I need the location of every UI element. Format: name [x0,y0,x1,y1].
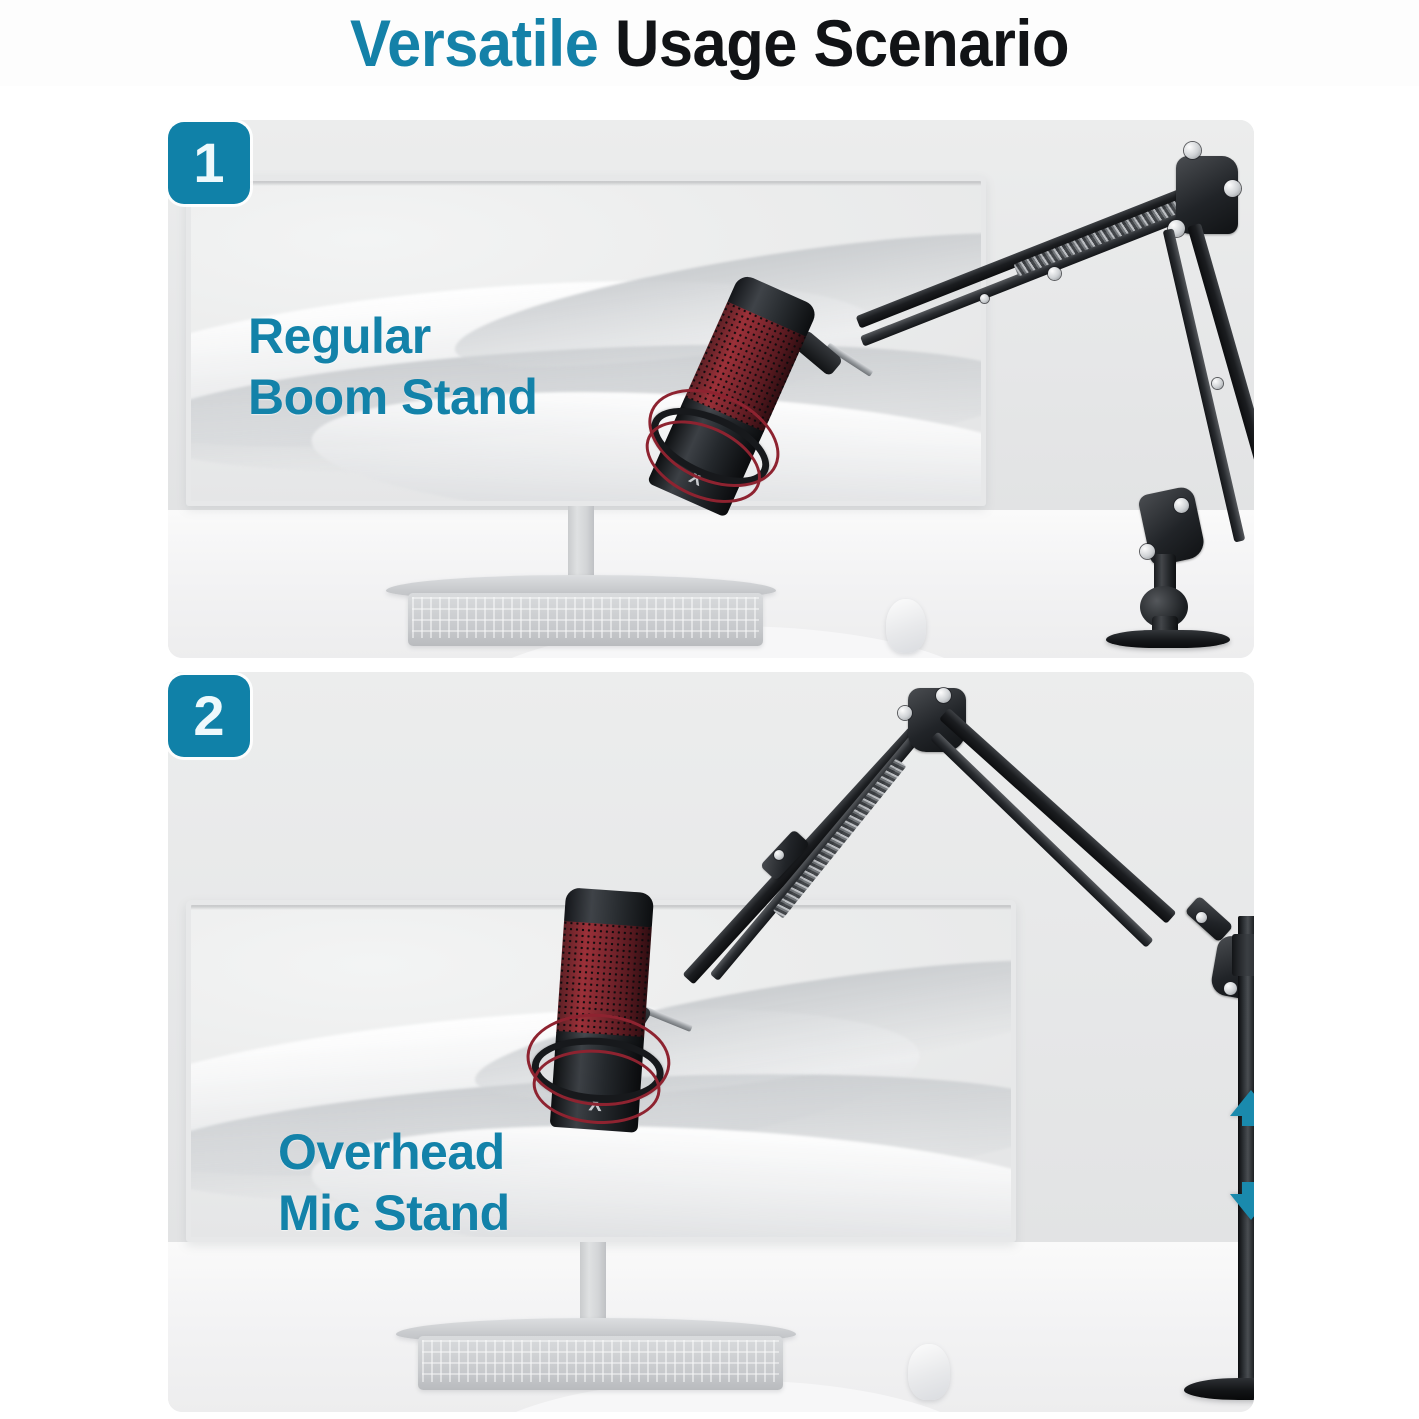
height-arrow-up-stem [1242,1112,1254,1126]
page-header: Versatile Usage Scenario [0,0,1419,86]
page-title-accent: Versatile [350,6,598,80]
boom-pole-screw-b-2 [1224,982,1237,995]
panel-badge-2: 2 [168,675,250,757]
monitor-neck-2 [580,1242,606,1324]
boom-right-screw-mid-2 [1196,912,1207,923]
height-arrow-down-stem [1242,1182,1254,1196]
desk-clamp-plate-1 [1106,630,1230,648]
boom-top-screw-b-1 [1224,180,1241,197]
monitor-neck-1 [568,506,594,582]
page-title-rest: Usage Scenario [598,6,1069,80]
keyboard-1 [408,593,763,646]
keyboard-keys-1 [412,597,759,638]
floor-pole-collar-2 [1232,934,1254,976]
microphone-2: X [550,887,654,1131]
panel-caption-2: Overhead Mic Stand [278,1122,510,1244]
boom-left-screw-mid-2 [774,850,784,860]
floor-pole-2 [1238,916,1254,1388]
keyboard-2 [418,1336,783,1390]
panel-caption-1: Regular Boom Stand [248,306,537,428]
boom-apex-screw-a-2 [936,688,951,703]
boom-upper-screw-mid-1 [1048,267,1061,280]
boom-lower-screw-mid-1 [1212,378,1223,389]
boom-top-screw-a-1 [1184,142,1201,159]
boom-upper-screw-mid2-1 [980,294,989,303]
mouse-2 [908,1344,950,1400]
scenario-panel-2: X [168,672,1254,1412]
boom-elbow-screw-b-1 [1140,544,1155,559]
height-arrow-down-icon [1230,1194,1254,1220]
keyboard-keys-2 [422,1340,779,1382]
panel-badge-1: 1 [168,122,250,204]
mouse-1 [886,599,926,653]
page-title: Versatile Usage Scenario [350,10,1069,76]
boom-elbow-screw-a-1 [1174,498,1189,513]
boom-apex-screw-b-2 [898,706,912,720]
